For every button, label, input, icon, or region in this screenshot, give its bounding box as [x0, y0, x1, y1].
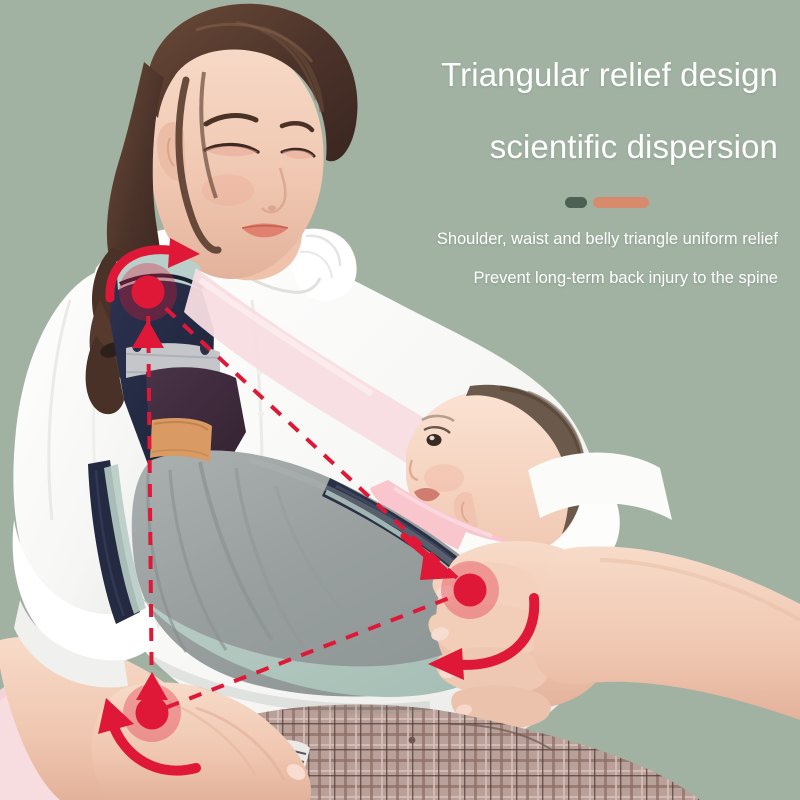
accent-pill-group — [565, 197, 649, 208]
headline-line-2: scientific dispersion — [490, 128, 778, 166]
subtitle-line-2: Prevent long-term back injury to the spi… — [474, 269, 779, 288]
headline-block: Triangular relief design scientific disp… — [0, 0, 800, 310]
accent-pill-coral — [593, 197, 649, 208]
product-banner: Triangular relief design scientific disp… — [0, 0, 800, 800]
subtitle-line-1: Shoulder, waist and belly triangle unifo… — [437, 230, 778, 249]
headline-line-1: Triangular relief design — [441, 56, 778, 94]
accent-pill-dark-green — [565, 197, 587, 208]
